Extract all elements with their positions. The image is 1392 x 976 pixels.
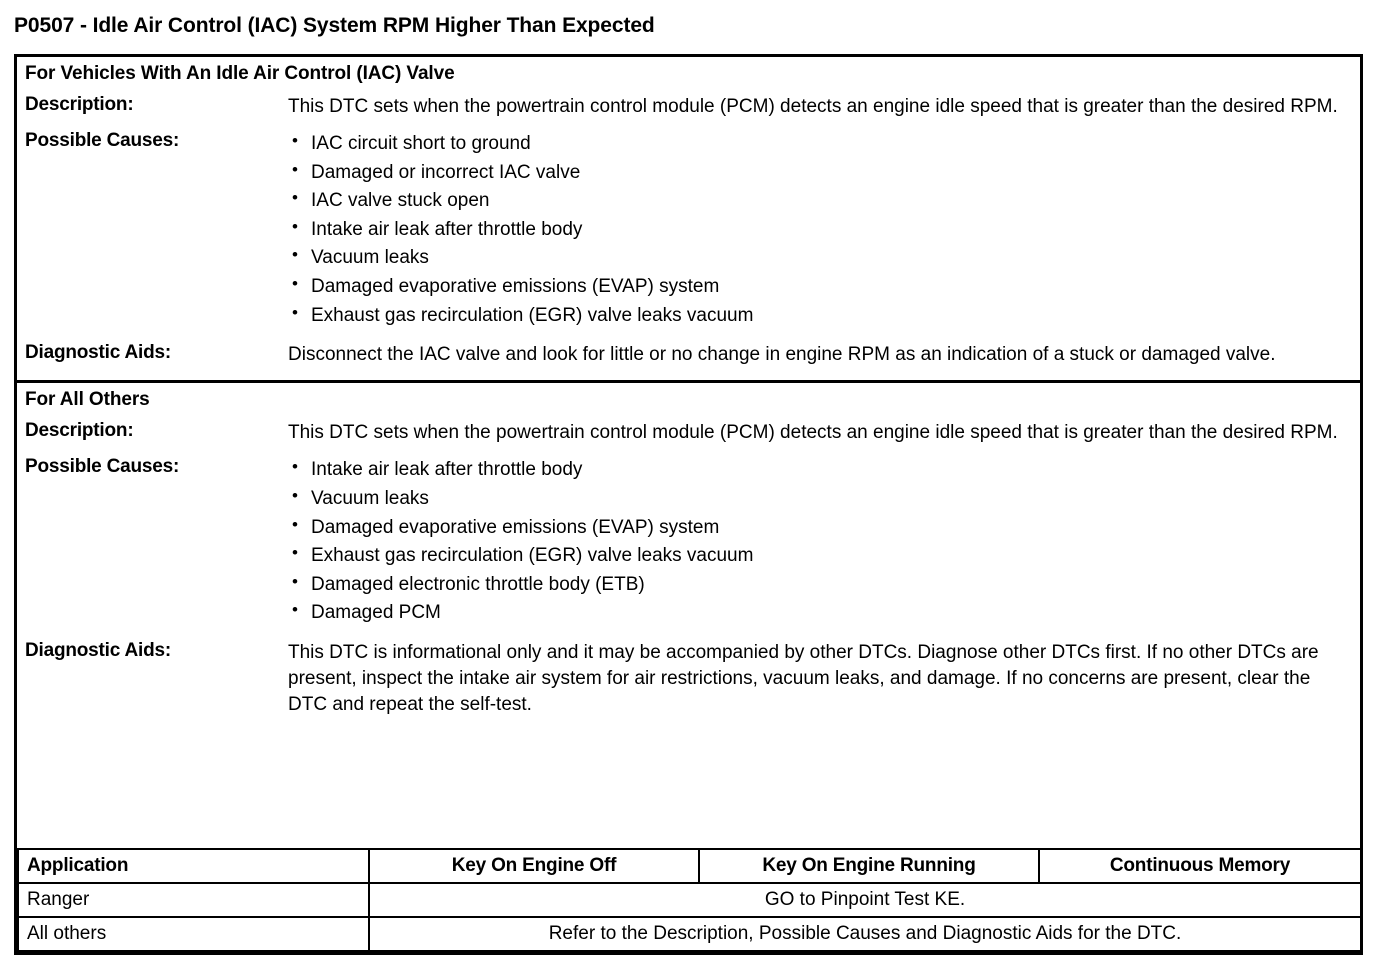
application-table: Application Key On Engine Off Key On Eng… bbox=[17, 848, 1362, 952]
list-item-label: Vacuum leaks bbox=[311, 488, 429, 509]
page-title: P0507 - Idle Air Control (IAC) System RP… bbox=[14, 14, 655, 38]
list-item: • Damaged or incorrect IAC valve bbox=[288, 159, 1342, 187]
section-header-iac-valve: For Vehicles With An Idle Air Control (I… bbox=[17, 57, 1360, 89]
list-item: • IAC circuit short to ground bbox=[288, 130, 1342, 158]
bullet-icon: • bbox=[292, 186, 298, 211]
possible-causes-list-2: • Intake air leak after throttle body • … bbox=[288, 456, 1342, 626]
table-row: All others Refer to the Description, Pos… bbox=[18, 917, 1361, 951]
description-text-1: This DTC sets when the powertrain contro… bbox=[288, 94, 1342, 120]
column-header-key-on-engine-off: Key On Engine Off bbox=[369, 849, 699, 883]
bullet-icon: • bbox=[292, 598, 298, 623]
list-item-label: Intake air leak after throttle body bbox=[311, 219, 582, 240]
bullet-icon: • bbox=[292, 570, 298, 595]
bullet-icon: • bbox=[292, 215, 298, 240]
column-header-continuous-memory: Continuous Memory bbox=[1039, 849, 1361, 883]
diagnostic-aids-text-1: Disconnect the IAC valve and look for li… bbox=[288, 342, 1342, 368]
possible-causes-body-2: • Intake air leak after throttle body • … bbox=[288, 456, 1360, 627]
diagnostic-aids-body-2: This DTC is informational only and it ma… bbox=[288, 640, 1360, 719]
section-iac-valve: For Vehicles With An Idle Air Control (I… bbox=[17, 57, 1360, 380]
diagnostic-aids-label-2: Diagnostic Aids: bbox=[17, 640, 288, 662]
application-result-ranger: GO to Pinpoint Test KE. bbox=[369, 883, 1361, 917]
list-item: • IAC valve stuck open bbox=[288, 187, 1342, 215]
list-item-label: Damaged or incorrect IAC valve bbox=[311, 162, 580, 183]
list-item: • Exhaust gas recirculation (EGR) valve … bbox=[288, 542, 1342, 570]
list-item-label: Exhaust gas recirculation (EGR) valve le… bbox=[311, 545, 753, 566]
table-header-row: Application Key On Engine Off Key On Eng… bbox=[18, 849, 1361, 883]
description-label-1: Description: bbox=[17, 94, 288, 116]
list-item-label: IAC circuit short to ground bbox=[311, 133, 531, 154]
bullet-icon: • bbox=[292, 484, 298, 509]
bullet-icon: • bbox=[292, 158, 298, 183]
description-text-2: This DTC sets when the powertrain contro… bbox=[288, 420, 1342, 446]
list-item-label: Damaged evaporative emissions (EVAP) sys… bbox=[311, 276, 719, 297]
possible-causes-list-1: • IAC circuit short to ground • Damaged … bbox=[288, 130, 1342, 329]
description-row-2: Description: This DTC sets when the powe… bbox=[17, 420, 1360, 446]
possible-causes-label-1: Possible Causes: bbox=[17, 130, 288, 152]
list-item: • Vacuum leaks bbox=[288, 244, 1342, 272]
document-page: P0507 - Idle Air Control (IAC) System RP… bbox=[0, 0, 1392, 976]
description-label-2: Description: bbox=[17, 420, 288, 442]
list-item-label: Intake air leak after throttle body bbox=[311, 459, 582, 480]
diagnostic-aids-body-1: Disconnect the IAC valve and look for li… bbox=[288, 342, 1360, 368]
list-item: • Damaged evaporative emissions (EVAP) s… bbox=[288, 273, 1342, 301]
bullet-icon: • bbox=[292, 301, 298, 326]
list-item-label: Damaged electronic throttle body (ETB) bbox=[311, 574, 645, 595]
list-item: • Damaged evaporative emissions (EVAP) s… bbox=[288, 514, 1342, 542]
list-item: • Vacuum leaks bbox=[288, 485, 1342, 513]
list-item: • Damaged PCM bbox=[288, 599, 1342, 627]
application-result-all-others: Refer to the Description, Possible Cause… bbox=[369, 917, 1361, 951]
table-row: Ranger GO to Pinpoint Test KE. bbox=[18, 883, 1361, 917]
application-name-all-others: All others bbox=[18, 917, 369, 951]
possible-causes-body-1: • IAC circuit short to ground • Damaged … bbox=[288, 130, 1360, 330]
list-item: • Damaged electronic throttle body (ETB) bbox=[288, 571, 1342, 599]
list-item-label: IAC valve stuck open bbox=[311, 190, 489, 211]
bullet-icon: • bbox=[292, 243, 298, 268]
column-header-key-on-engine-running: Key On Engine Running bbox=[699, 849, 1039, 883]
bullet-icon: • bbox=[292, 513, 298, 538]
description-row-1: Description: This DTC sets when the powe… bbox=[17, 94, 1360, 120]
list-item: • Intake air leak after throttle body bbox=[288, 456, 1342, 484]
dtc-detail-frame: For Vehicles With An Idle Air Control (I… bbox=[14, 54, 1363, 955]
list-item: • Exhaust gas recirculation (EGR) valve … bbox=[288, 302, 1342, 330]
column-header-application: Application bbox=[18, 849, 369, 883]
list-item-label: Exhaust gas recirculation (EGR) valve le… bbox=[311, 305, 753, 326]
application-name-ranger: Ranger bbox=[18, 883, 369, 917]
diagnostic-aids-row-2: Diagnostic Aids: This DTC is information… bbox=[17, 640, 1360, 731]
diagnostic-aids-label-1: Diagnostic Aids: bbox=[17, 342, 288, 364]
section-header-all-others: For All Others bbox=[17, 383, 1360, 415]
bullet-icon: • bbox=[292, 129, 298, 154]
description-body-2: This DTC sets when the powertrain contro… bbox=[288, 420, 1360, 446]
list-item: • Intake air leak after throttle body bbox=[288, 216, 1342, 244]
possible-causes-label-2: Possible Causes: bbox=[17, 456, 288, 478]
bullet-icon: • bbox=[292, 455, 298, 480]
bullet-icon: • bbox=[292, 272, 298, 297]
section-all-others: For All Others Description: This DTC set… bbox=[17, 380, 1360, 730]
possible-causes-row-1: Possible Causes: • IAC circuit short to … bbox=[17, 130, 1360, 330]
list-item-label: Vacuum leaks bbox=[311, 247, 429, 268]
diagnostic-aids-text-2: This DTC is informational only and it ma… bbox=[288, 640, 1342, 719]
possible-causes-row-2: Possible Causes: • Intake air leak after… bbox=[17, 456, 1360, 627]
bullet-icon: • bbox=[292, 541, 298, 566]
diagnostic-aids-row-1: Diagnostic Aids: Disconnect the IAC valv… bbox=[17, 342, 1360, 380]
description-body-1: This DTC sets when the powertrain contro… bbox=[288, 94, 1360, 120]
list-item-label: Damaged PCM bbox=[311, 602, 441, 623]
list-item-label: Damaged evaporative emissions (EVAP) sys… bbox=[311, 517, 719, 538]
